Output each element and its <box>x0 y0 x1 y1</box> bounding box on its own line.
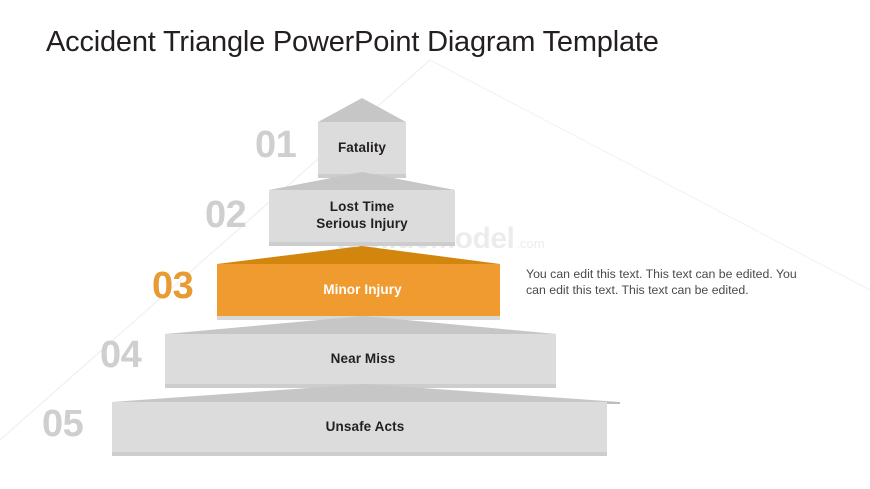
pyramid-tier-5-label: Unsafe Acts <box>95 418 635 435</box>
pyramid-tier-5[interactable]: Unsafe Acts <box>95 380 635 460</box>
tier-description-text: You can edit this text. This text can be… <box>526 266 814 298</box>
tier-1-bevel <box>318 98 406 122</box>
tier-5-label-line-1: Unsafe Acts <box>95 418 635 435</box>
tier-4-bevel <box>165 316 556 334</box>
pyramid-tier-3-label: Minor Injury <box>200 281 525 298</box>
tier-5-base-shadow <box>112 452 607 456</box>
tier-2-label-line-1: Lost Time <box>252 198 472 215</box>
pyramid-tier-2-number: 02 <box>205 194 246 237</box>
tier-2-bevel <box>269 172 455 190</box>
pyramid-tier-2[interactable]: Lost Time Serious Injury <box>252 168 472 250</box>
pyramid-tier-3-number: 03 <box>152 265 193 308</box>
pyramid-tier-5-number: 05 <box>42 403 83 446</box>
tier-2-label-line-2: Serious Injury <box>252 215 472 232</box>
tier-3-bevel <box>217 246 500 264</box>
tier-1-label-line-1: Fatality <box>302 139 422 156</box>
pyramid-tier-4-number: 04 <box>100 334 141 377</box>
tier-4-label-line-1: Near Miss <box>148 350 578 367</box>
pyramid-tier-4-label: Near Miss <box>148 350 578 367</box>
page-title: Accident Triangle PowerPoint Diagram Tem… <box>46 26 659 59</box>
tier-3-label-line-1: Minor Injury <box>200 281 525 298</box>
pyramid-tier-2-label: Lost Time Serious Injury <box>252 198 472 232</box>
pyramid-tier-1-number: 01 <box>255 124 296 167</box>
tier-5-bevel <box>112 384 620 402</box>
pyramid-tier-1-label: Fatality <box>302 139 422 156</box>
